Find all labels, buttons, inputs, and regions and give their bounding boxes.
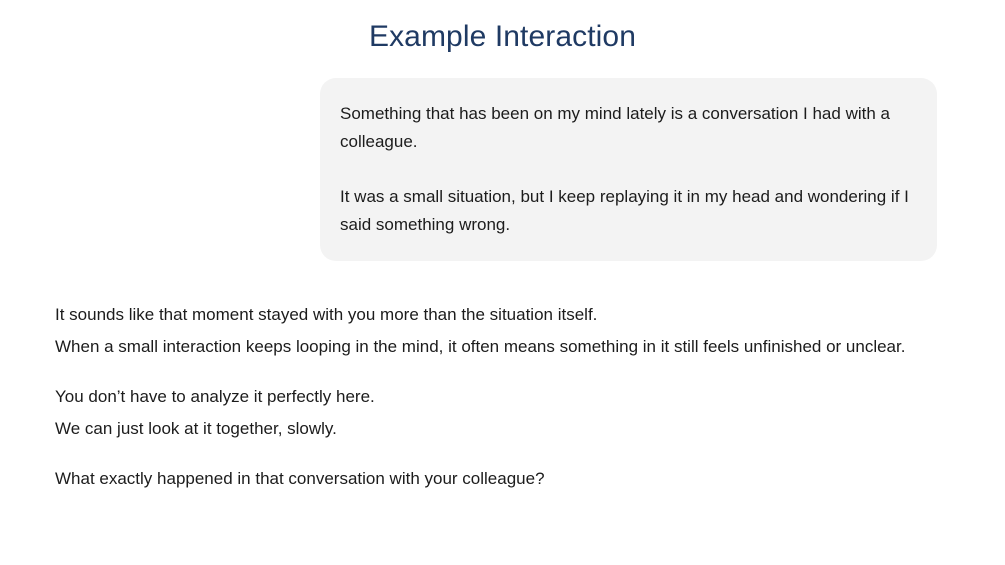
assistant-reply-paragraph: What exactly happened in that conversati… <box>55 463 920 495</box>
example-interaction-page: Example Interaction Something that has b… <box>0 0 1005 565</box>
assistant-reply-line: It sounds like that moment stayed with y… <box>55 299 920 331</box>
page-title: Example Interaction <box>0 18 1005 56</box>
assistant-reply-line: What exactly happened in that conversati… <box>55 463 920 495</box>
assistant-reply-paragraph: It sounds like that moment stayed with y… <box>55 299 920 363</box>
assistant-reply-line: We can just look at it together, slowly. <box>55 413 920 445</box>
assistant-reply-paragraph: You don’t have to analyze it perfectly h… <box>55 381 920 445</box>
assistant-reply-block: It sounds like that moment stayed with y… <box>55 299 920 495</box>
assistant-reply-line: You don’t have to analyze it perfectly h… <box>55 381 920 413</box>
user-message-bubble: Something that has been on my mind latel… <box>320 78 937 261</box>
assistant-reply-line: When a small interaction keeps looping i… <box>55 331 920 363</box>
user-message-paragraph: It was a small situation, but I keep rep… <box>340 183 917 239</box>
user-message-paragraph: Something that has been on my mind latel… <box>340 100 917 156</box>
